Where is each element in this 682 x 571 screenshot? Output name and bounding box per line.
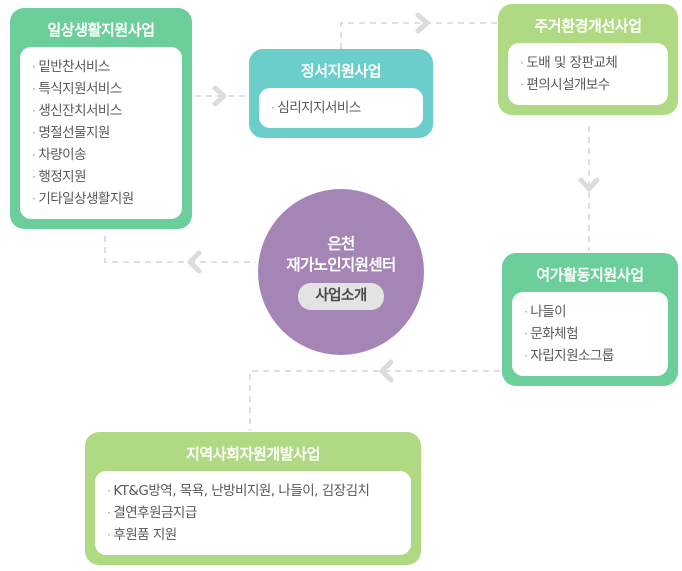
card-title-daily-living-support: 일상생활지원사업 xyxy=(20,16,182,47)
bullet-dot-icon: · xyxy=(32,170,35,184)
card-body-housing-improvement: ·도배 및 장판교체 ·편의시설개보수 xyxy=(508,43,668,105)
bullet-dot-icon: · xyxy=(32,82,35,96)
bullet-dot-icon: · xyxy=(107,506,110,520)
list-item-label: 나들이 xyxy=(530,304,566,320)
center-hub-circle[interactable]: 은천 재가노인지원센터 사업소개 xyxy=(258,189,424,355)
list-item: ·특식지원서비스 xyxy=(32,78,172,100)
connector-emotional-housing xyxy=(341,23,497,49)
bullet-dot-icon: · xyxy=(520,56,523,70)
card-title-community-resource-development: 지역사회자원개발사업 xyxy=(95,440,411,471)
bullet-dot-icon: · xyxy=(107,528,110,542)
bullet-dot-icon: · xyxy=(107,484,110,498)
bullet-dot-icon: · xyxy=(32,104,35,118)
card-housing-improvement[interactable]: 주거환경개선사업 ·도배 및 장판교체 ·편의시설개보수 xyxy=(498,4,678,115)
connector-leisure-community xyxy=(250,371,500,431)
bullet-dot-icon: · xyxy=(524,349,527,363)
list-item: ·자립지원소그룹 xyxy=(524,345,658,367)
list-item: ·심리지지서비스 xyxy=(271,97,413,119)
list-item-label: 자립지원소그룹 xyxy=(530,348,613,364)
list-item-label: 생신잔치서비스 xyxy=(38,103,121,119)
arrow-leisure-to-community xyxy=(382,362,391,380)
bullet-dot-icon: · xyxy=(524,305,527,319)
card-daily-living-support[interactable]: 일상생활지원사업 ·밑반찬서비스 ·특식지원서비스 ·생신잔치서비스 ·명절선물… xyxy=(10,8,192,229)
bullet-dot-icon: · xyxy=(32,60,35,74)
bullet-dot-icon: · xyxy=(520,78,523,92)
card-body-community-resource-development: ·KT&G방역, 목욕, 난방비지원, 나들이, 김장김치 ·결연후원금지급 ·… xyxy=(95,471,411,555)
center-badge-program-intro[interactable]: 사업소개 xyxy=(298,283,383,310)
list-item: ·문화체험 xyxy=(524,323,658,345)
list-item: ·기타일상생활지원 xyxy=(32,188,172,210)
arrow-community-to-daily xyxy=(190,253,199,271)
list-item-label: 특식지원서비스 xyxy=(38,81,121,97)
list-item: ·도배 및 장판교체 xyxy=(520,52,658,74)
arrow-daily-to-emotional xyxy=(215,88,224,104)
bullet-dot-icon: · xyxy=(32,192,35,206)
diagram-canvas: 일상생활지원사업 ·밑반찬서비스 ·특식지원서비스 ·생신잔치서비스 ·명절선물… xyxy=(0,0,682,571)
list-item: ·명절선물지원 xyxy=(32,122,172,144)
bullet-dot-icon: · xyxy=(32,148,35,162)
card-title-housing-improvement: 주거환경개선사업 xyxy=(508,12,668,43)
list-item-label: 문화체험 xyxy=(530,326,578,342)
card-leisure-activity-support[interactable]: 여가활동지원사업 ·나들이 ·문화체험 ·자립지원소그룹 xyxy=(502,253,678,386)
list-item-label: KT&G방역, 목욕, 난방비지원, 나들이, 김장김치 xyxy=(113,483,369,499)
list-item: ·생신잔치서비스 xyxy=(32,100,172,122)
list-item: ·밑반찬서비스 xyxy=(32,56,172,78)
list-item-label: 행정지원 xyxy=(38,169,86,185)
arrow-emotional-to-housing xyxy=(418,15,427,31)
center-title-line-2: 재가노인지원센터 xyxy=(286,255,395,276)
list-item-label: 명절선물지원 xyxy=(38,125,110,141)
card-emotional-support[interactable]: 정서지원사업 ·심리지지서비스 xyxy=(249,49,433,138)
list-item-label: 후원품 지원 xyxy=(113,527,176,543)
list-item: ·KT&G방역, 목욕, 난방비지원, 나들이, 김장김치 xyxy=(107,480,401,502)
connector-community-daily xyxy=(105,236,256,262)
center-title-line-1: 은천 xyxy=(327,234,354,255)
arrow-housing-to-leisure xyxy=(581,180,597,189)
list-item: ·차량이송 xyxy=(32,144,172,166)
list-item: ·후원품 지원 xyxy=(107,524,401,546)
card-body-daily-living-support: ·밑반찬서비스 ·특식지원서비스 ·생신잔치서비스 ·명절선물지원 ·차량이송 … xyxy=(20,47,182,219)
list-item-label: 기타일상생활지원 xyxy=(38,191,133,207)
list-item-label: 심리지지서비스 xyxy=(277,100,360,116)
list-item: ·나들이 xyxy=(524,301,658,323)
card-title-leisure-activity-support: 여가활동지원사업 xyxy=(512,261,668,292)
list-item: ·결연후원금지급 xyxy=(107,502,401,524)
list-item-label: 도배 및 장판교체 xyxy=(526,55,617,71)
card-body-leisure-activity-support: ·나들이 ·문화체험 ·자립지원소그룹 xyxy=(512,292,668,376)
card-community-resource-development[interactable]: 지역사회자원개발사업 ·KT&G방역, 목욕, 난방비지원, 나들이, 김장김치… xyxy=(85,432,421,565)
bullet-dot-icon: · xyxy=(271,101,274,115)
list-item: ·편의시설개보수 xyxy=(520,74,658,96)
list-item-label: 결연후원금지급 xyxy=(113,505,196,521)
bullet-dot-icon: · xyxy=(32,126,35,140)
bullet-dot-icon: · xyxy=(524,327,527,341)
list-item-label: 밑반찬서비스 xyxy=(38,59,110,75)
list-item-label: 편의시설개보수 xyxy=(526,77,609,93)
card-title-emotional-support: 정서지원사업 xyxy=(259,57,423,88)
list-item-label: 차량이송 xyxy=(38,147,86,163)
card-body-emotional-support: ·심리지지서비스 xyxy=(259,88,423,128)
list-item: ·행정지원 xyxy=(32,166,172,188)
